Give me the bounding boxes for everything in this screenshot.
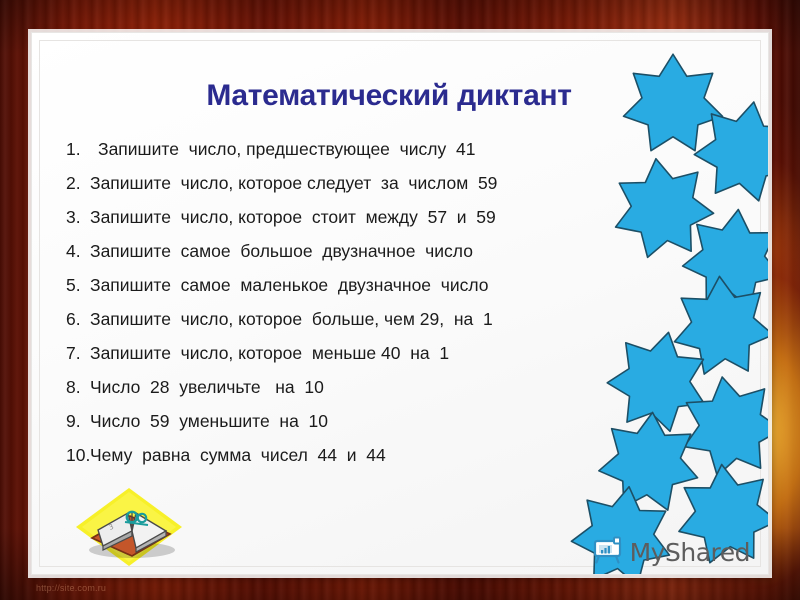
question-row: 1.Запишите число, предшествующее числу 4… [46,139,666,173]
question-text: Запишите число, которое следует за число… [90,173,497,194]
question-row: 3.Запишите число, которое стоит между 57… [46,207,666,241]
question-text: Запишите самое маленькое двузначное числ… [90,275,489,296]
slide-content-card: Математический диктант 1.Запишите число,… [31,32,769,575]
question-list: 1.Запишите число, предшествующее числу 4… [46,139,666,479]
question-number: 4. [46,241,90,262]
question-text: Запишите число, которое больше, чем 29, … [90,309,493,330]
question-row: 8.Число 28 увеличьте на 10 [46,377,666,411]
question-text: Запишите число, которое меньше 40 на 1 [90,343,449,364]
question-row: 2.Запишите число, которое следует за чис… [46,173,666,207]
slide-title: Математический диктант [32,79,768,113]
myshared-label: MyShared [630,538,750,567]
question-number: 6. [46,309,90,330]
question-text: Число 28 увеличьте на 10 [90,377,324,398]
question-text: Запишите самое большое двузначное число [90,241,473,262]
question-number: 1. [46,139,90,160]
projector-chart-icon [591,535,625,570]
question-text: Запишите число, предшествующее числу 41 [90,139,475,160]
open-book-icon: 3 [70,486,188,568]
question-number: 8. [46,377,90,398]
myshared-watermark: MyShared [591,535,750,570]
question-number: 5. [46,275,90,296]
question-row: 7.Запишите число, которое меньше 40 на 1 [46,343,666,377]
question-row: 4.Запишите самое большое двузначное числ… [46,241,666,275]
question-text: Чему равна сумма чисел 44 и 44 [90,445,386,466]
question-number: 9. [46,411,90,432]
footer-source-url: http://site.com.ru [36,583,106,593]
decorative-star-icon [679,206,769,314]
question-number: 2. [46,173,90,194]
question-row: 5.Запишите самое маленькое двузначное чи… [46,275,666,309]
decorative-star-icon [691,98,769,206]
question-row: 10.Чему равна сумма чисел 44 и 44 [46,445,666,479]
question-row: 6.Запишите число, которое больше, чем 29… [46,309,666,343]
question-text: Запишите число, которое стоит между 57 и… [90,207,496,228]
question-text: Число 59 уменьшите на 10 [90,411,328,432]
decorative-star-icon [677,373,769,481]
question-number: 10. [46,445,90,466]
question-number: 7. [46,343,90,364]
question-row: 9.Число 59 уменьшите на 10 [46,411,666,445]
decorative-star-icon [669,273,769,381]
question-number: 3. [46,207,90,228]
